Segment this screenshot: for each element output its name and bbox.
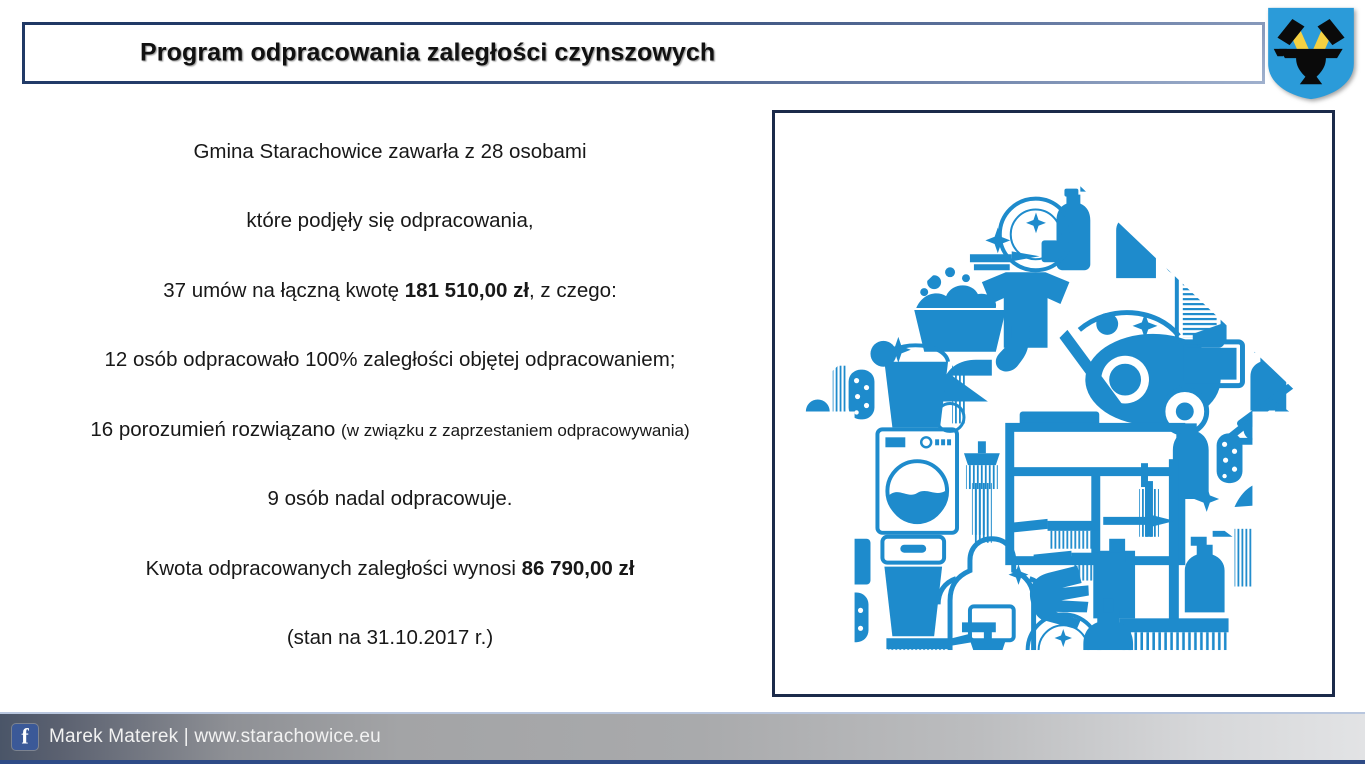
text-line-3: 37 umów na łączną kwotę 181 510,00 zł, z…	[10, 279, 770, 303]
slide-canvas: Program odpracowania zaległości czynszow…	[0, 0, 1365, 768]
footer-bar: Marek Materek | www.starachowice.eu	[0, 712, 1365, 764]
text-line-8-main: (stan na 31.10.2017 r.)	[287, 626, 493, 649]
title-box: Program odpracowania zaległości czynszow…	[22, 22, 1265, 84]
text-line-5: 16 porozumień rozwiązano (w związku z za…	[10, 418, 770, 442]
body-text-block: Gmina Starachowice zawarła z 28 osobami …	[10, 140, 770, 650]
amount-total: 181 510,00 zł	[405, 279, 529, 302]
text-line-3-tail: , z czego:	[529, 279, 617, 302]
text-line-4: 12 osób odpracowało 100% zaległości obję…	[10, 348, 770, 372]
text-line-5-note: (w związku z zaprzestaniem odpracowywani…	[341, 421, 690, 440]
text-line-6-main: 9 osób nadal odpracowuje.	[267, 487, 512, 510]
text-line-5-main: 16 porozumień rozwiązano	[90, 418, 341, 441]
text-line-3-main: 37 umów na łączną kwotę	[163, 279, 405, 302]
page-title: Program odpracowania zaległości czynszow…	[140, 39, 715, 68]
text-line-1: Gmina Starachowice zawarła z 28 osobami	[10, 140, 770, 164]
coat-of-arms-icon	[1264, 6, 1358, 101]
footer-credit: Marek Materek | www.starachowice.eu	[49, 726, 381, 748]
illustration-frame	[772, 110, 1335, 697]
amount-worked-off: 86 790,00 zł	[522, 557, 635, 580]
text-line-2: które podjęły się odpracowania,	[10, 209, 770, 233]
facebook-icon[interactable]	[12, 724, 38, 750]
text-line-2-main: które podjęły się odpracowania,	[246, 209, 533, 232]
text-line-7: Kwota odpracowanych zaległości wynosi 86…	[10, 557, 770, 581]
cleaning-house-illustration	[775, 113, 1332, 694]
text-line-8: (stan na 31.10.2017 r.)	[10, 626, 770, 650]
text-line-6: 9 osób nadal odpracowuje.	[10, 487, 770, 511]
text-line-1-main: Gmina Starachowice zawarła z 28 osobami	[193, 140, 586, 163]
text-line-7-main: Kwota odpracowanych zaległości wynosi	[146, 557, 522, 580]
text-line-4-main: 12 osób odpracowało 100% zaległości obję…	[105, 348, 676, 371]
